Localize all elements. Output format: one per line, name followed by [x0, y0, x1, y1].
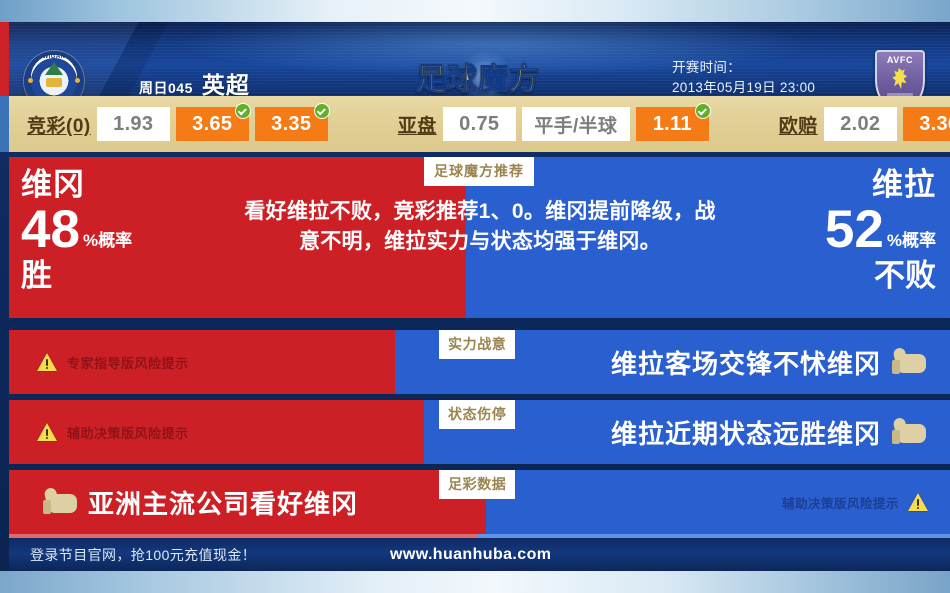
warning-icon	[37, 353, 57, 371]
match-number: 周日045	[139, 78, 193, 96]
info-row-statement: 维拉客场交锋不怵维冈	[611, 330, 926, 394]
background-top-gradient	[0, 0, 950, 22]
info-row-category-tag: 状态伤停	[439, 400, 515, 429]
footer-bar: 登录节目官网，抢100元充值现金！ www.huanhuba.com	[9, 538, 950, 571]
away-percent-value: 52	[825, 206, 884, 254]
risk-notice: 专家指导版风险提示	[37, 330, 189, 394]
odds-cell-jingcai-3[interactable]: 3.35	[255, 107, 328, 141]
home-team-name: 维冈	[21, 169, 221, 200]
odds-cell-jingcai-2[interactable]: 3.65	[176, 107, 249, 141]
odds-group-jingcai: 竞彩(0)1.933.653.35	[9, 107, 328, 141]
wigan-athletic-badge-icon: WIGAN ATHLETIC	[24, 51, 84, 96]
odds-group-yapan: 亚盘0.75平手/半球1.11	[328, 107, 709, 141]
odds-cell-oupei-1[interactable]: 2.02	[824, 107, 897, 141]
risk-notice-label: 辅助决策版风险提示	[67, 423, 189, 442]
odds-cell-yapan-2[interactable]: 平手/半球	[522, 107, 630, 141]
check-icon	[695, 103, 711, 119]
odds-cell-yapan-1[interactable]: 0.75	[443, 107, 516, 141]
away-percent-row: 52 %概率	[726, 206, 936, 254]
info-row-statement-text: 维拉近期状态远胜维冈	[611, 414, 881, 451]
odds-label-jingcai: 竞彩(0)	[27, 111, 91, 138]
risk-notice-label: 专家指导版风险提示	[67, 353, 189, 372]
kickoff-block: 开赛时间： 2013年05月19日 23:00	[672, 58, 815, 96]
footer-promo-text: 登录节目官网，抢100元充值现金！	[30, 545, 256, 565]
odds-bar: 竞彩(0)1.933.653.35亚盘0.75平手/半球1.11欧赔2.023.…	[9, 96, 950, 152]
badge-top-text: WIGAN	[24, 54, 84, 60]
check-icon	[235, 103, 251, 119]
away-percent-suffix: %概率	[887, 232, 936, 249]
recommendation-text: 看好维拉不败，竞彩推荐1、0。维冈提前降级，战意不明，维拉实力与状态均强于维冈。	[241, 197, 719, 257]
info-row-statement-text: 维拉客场交锋不怵维冈	[611, 344, 881, 381]
away-probability-block: 维拉 52 %概率 不败	[726, 169, 936, 291]
kickoff-value: 2013年05月19日 23:00	[672, 78, 815, 96]
odds-label-oupei: 欧赔	[779, 111, 818, 138]
avfc-label: AVFC	[887, 55, 913, 65]
away-team-name: 维拉	[726, 169, 936, 200]
aston-villa-badge-icon: AVFC	[875, 50, 925, 96]
recommendation-badge: 足球魔方推荐	[424, 157, 534, 186]
header-red-accent	[0, 22, 9, 96]
info-row-statement: 亚洲主流公司看好维冈	[43, 470, 358, 534]
lion-emblem-icon	[892, 68, 909, 91]
risk-notice: 辅助决策版风险提示	[782, 470, 928, 534]
odds-cell-jingcai-1[interactable]: 1.93	[97, 107, 170, 141]
info-row[interactable]: 状态伤停辅助决策版风险提示维拉近期状态远胜维冈	[9, 400, 950, 464]
brand-logo: 足球魔方	[413, 54, 543, 96]
match-preview-screen: WIGAN ATHLETIC 周日045 英超 足球魔方 开赛时间： 2013年…	[0, 0, 950, 593]
home-probability-block: 维冈 48 %概率 胜	[21, 169, 221, 291]
prediction-panel: 维冈 48 %概率 胜 维拉 52 %概率 不败 足球魔方推荐 看好维拉不败，竞…	[9, 157, 950, 318]
thumbs-up-icon	[892, 418, 926, 446]
kickoff-label: 开赛时间：	[672, 58, 815, 78]
odds-cell-yapan-3[interactable]: 1.11	[636, 107, 709, 141]
info-row[interactable]: 实力战意专家指导版风险提示维拉客场交锋不怵维冈	[9, 330, 950, 394]
odds-cell-oupei-2[interactable]: 3.36	[903, 107, 950, 141]
odds-bar-left-edge	[0, 96, 9, 152]
home-outcome: 胜	[21, 260, 221, 291]
away-outcome: 不败	[726, 260, 936, 291]
odds-label-yapan: 亚盘	[398, 111, 437, 138]
match-identifier: 周日045 英超	[139, 66, 250, 96]
match-header: WIGAN ATHLETIC 周日045 英超 足球魔方 开赛时间： 2013年…	[0, 22, 950, 96]
warning-icon	[37, 423, 57, 441]
info-row-category-tag: 足彩数据	[439, 470, 515, 499]
home-percent-suffix: %概率	[83, 232, 132, 249]
risk-notice: 辅助决策版风险提示	[37, 400, 189, 464]
risk-notice-label: 辅助决策版风险提示	[782, 493, 899, 512]
badge-base-band	[887, 93, 913, 96]
info-row[interactable]: 足彩数据辅助决策版风险提示亚洲主流公司看好维冈	[9, 470, 950, 534]
info-row-statement: 维拉近期状态远胜维冈	[611, 400, 926, 464]
background-bottom-gradient	[0, 571, 950, 593]
info-row-statement-text: 亚洲主流公司看好维冈	[88, 484, 358, 521]
warning-icon	[908, 493, 928, 511]
info-row-category-tag: 实力战意	[439, 330, 515, 359]
league-name: 英超	[202, 66, 250, 96]
odds-group-oupei: 欧赔2.023.363.54	[709, 107, 950, 141]
thumbs-up-icon	[892, 348, 926, 376]
home-percent-row: 48 %概率	[21, 206, 221, 254]
check-icon	[314, 103, 330, 119]
brand-logo-text: 足球魔方	[416, 54, 540, 96]
thumbs-up-icon	[43, 488, 77, 516]
badge-ring-text: WIGAN ATHLETIC	[24, 51, 84, 96]
footer-website-link[interactable]: www.huanhuba.com	[390, 546, 551, 564]
home-percent-value: 48	[21, 206, 80, 254]
